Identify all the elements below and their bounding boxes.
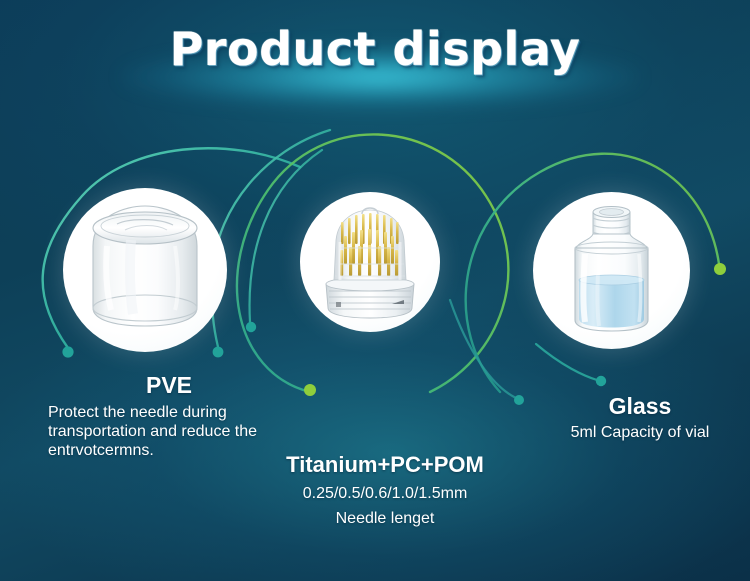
product-image-pve <box>63 188 227 352</box>
caption-needle-spec-label: Needle lenget <box>240 509 530 528</box>
caption-pve-heading: PVE <box>48 372 278 399</box>
plastic-protective-cap-icon <box>63 188 227 352</box>
caption-glass-heading: Glass <box>540 393 740 420</box>
product-image-needle-cartridge <box>300 192 440 332</box>
glass-vial-icon <box>533 192 690 349</box>
page-title: Product display <box>0 22 750 76</box>
caption-needle-spec: 0.25/0.5/0.6/1.0/1.5mm <box>240 484 530 503</box>
product-image-glass-vial <box>533 192 690 349</box>
caption-glass: Glass 5ml Capacity of vial <box>540 393 740 442</box>
caption-pve: PVE Protect the needle during transporta… <box>48 372 278 460</box>
microneedle-cartridge-icon <box>300 192 440 332</box>
caption-glass-description: 5ml Capacity of vial <box>540 423 740 442</box>
caption-needle-heading: Titanium+PC+POM <box>240 452 530 478</box>
product-display-poster: Product display <box>0 0 750 581</box>
caption-needle: Titanium+PC+POM 0.25/0.5/0.6/1.0/1.5mm N… <box>240 452 530 528</box>
